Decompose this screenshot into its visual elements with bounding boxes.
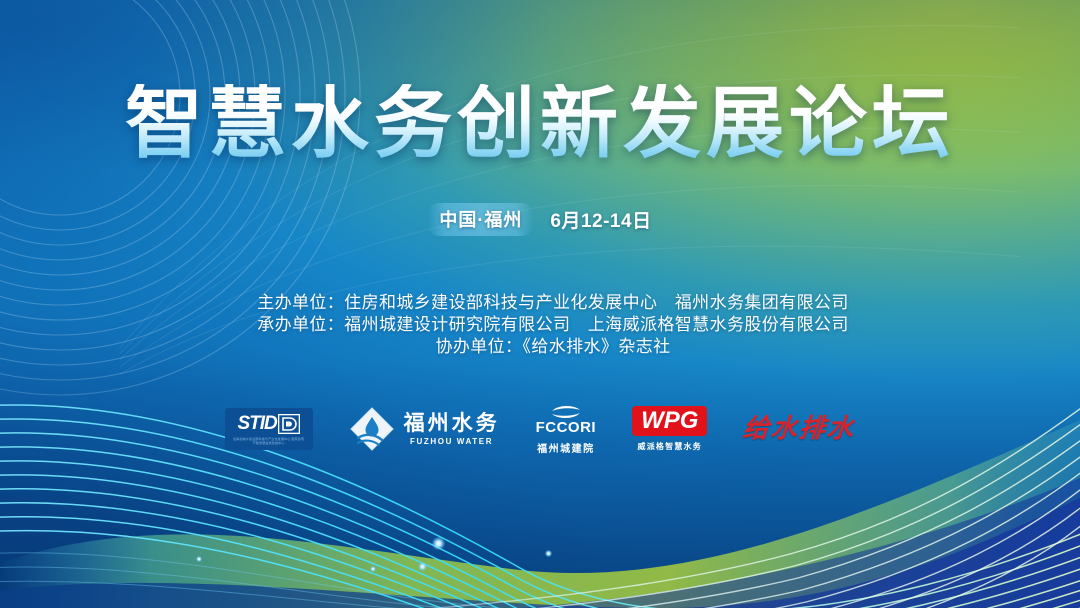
event-date: 6月12-14日 bbox=[550, 206, 651, 233]
event-subtitle: 中国·福州 6月12-14日 bbox=[0, 203, 1080, 236]
logo-water-supply-drainage: 给水排水 bbox=[743, 398, 855, 460]
logo-fuzhou-water-cn: 福州水务 bbox=[404, 412, 500, 435]
logo-stid: STID 住房和城乡建设部科技与产业化发展中心 国家建筑节能质量监督检验中心 bbox=[225, 398, 313, 460]
logo-wpg-cn: 威派格智慧水务 bbox=[638, 441, 702, 452]
event-location: 中国·福州 bbox=[428, 203, 533, 236]
logo-fccori: FCCORI 福州城建院 bbox=[536, 398, 597, 460]
water-drop-diamond-icon bbox=[349, 406, 395, 452]
logo-fuzhou-water: 福州水务 FUZHOU WATER bbox=[349, 398, 500, 460]
organizer-line-host: 主办单位：住房和城乡建设部科技与产业化发展中心 福州水务集团有限公司 bbox=[0, 292, 1080, 314]
logo-stid-mark: STID bbox=[237, 414, 276, 433]
organizer-line-organizer: 承办单位：福州城建设计研究院有限公司 上海威派格智慧水务股份有限公司 bbox=[0, 314, 1080, 336]
page-title: 智慧水务创新发展论坛 bbox=[0, 84, 1080, 162]
logo-fccori-mark: FCCORI bbox=[536, 420, 597, 435]
stid-d-glyph-icon bbox=[278, 414, 300, 434]
poster-content: 智慧水务创新发展论坛 中国·福州 6月12-14日 主办单位：住房和城乡建设部科… bbox=[0, 0, 1080, 608]
poster-canvas: 智慧水务创新发展论坛 中国·福州 6月12-14日 主办单位：住房和城乡建设部科… bbox=[0, 0, 1080, 608]
organizer-block: 主办单位：住房和城乡建设部科技与产业化发展中心 福州水务集团有限公司 承办单位：… bbox=[0, 292, 1080, 358]
fccori-leaf-icon bbox=[549, 404, 583, 420]
logo-fccori-cn: 福州城建院 bbox=[537, 440, 595, 455]
logo-wpg-mark: WPG bbox=[641, 408, 698, 433]
logo-stid-caption: 住房和城乡建设部科技与产业化发展中心 国家建筑节能质量监督检验中心 bbox=[232, 437, 306, 445]
sponsor-logo-row: STID 住房和城乡建设部科技与产业化发展中心 国家建筑节能质量监督检验中心 bbox=[0, 398, 1080, 460]
logo-wpg: WPG 威派格智慧水务 bbox=[632, 398, 707, 460]
organizer-line-coorganizer: 协办单位：《给水排水》杂志社 bbox=[0, 336, 1080, 358]
logo-water-supply-drainage-cn: 给水排水 bbox=[742, 416, 857, 442]
logo-fuzhou-water-en: FUZHOU WATER bbox=[410, 437, 493, 446]
